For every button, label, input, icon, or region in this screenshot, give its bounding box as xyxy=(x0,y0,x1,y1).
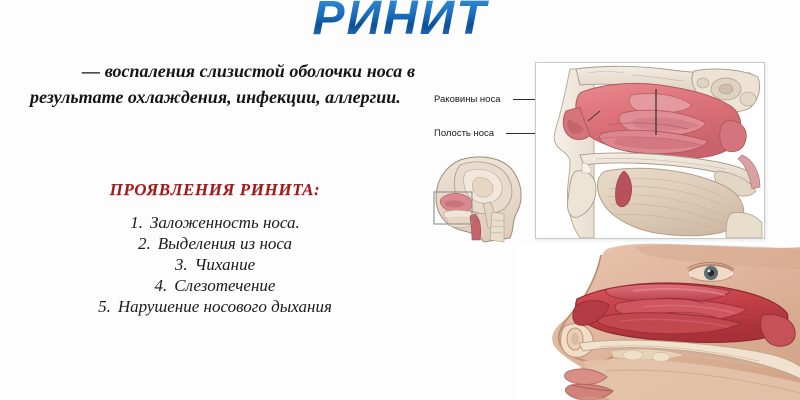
nasal-cavity-sagittal-illustration xyxy=(536,63,764,238)
list-item: 4.Слезотечение xyxy=(0,275,430,296)
definition-paragraph: — воспаления слизистой оболочки носа в р… xyxy=(30,58,415,110)
list-item: 3.Чихание xyxy=(0,254,430,275)
nasal-cavity-diagram-box xyxy=(535,62,765,239)
list-item: 1.Заложенность носа. xyxy=(0,212,430,233)
list-item-label: Выделения из носа xyxy=(158,234,292,253)
list-item-label: Нарушение носового дыхания xyxy=(118,297,332,316)
head-sagittal-inset-icon xyxy=(420,152,538,244)
list-item-number: 3. xyxy=(175,255,188,274)
list-item-label: Слезотечение xyxy=(174,276,275,295)
list-item: 5.Нарушение носового дыхания xyxy=(0,296,430,317)
symptoms-list: 1.Заложенность носа. 2.Выделения из носа… xyxy=(0,212,430,317)
list-item-number: 1. xyxy=(130,213,143,232)
list-item-number: 2. xyxy=(138,234,151,253)
symptoms-heading: ПРОЯВЛЕНИЯ РИНИТА: xyxy=(0,180,430,200)
page-title: РИНИТ xyxy=(0,0,800,44)
label-nasal-conchae: Раковины носа xyxy=(434,94,500,105)
slide-root: РИНИТ — воспаления слизистой оболочки но… xyxy=(0,0,800,400)
list-item-number: 4. xyxy=(155,276,168,295)
list-item-label: Чихание xyxy=(195,255,256,274)
anatomy-diagram: Раковины носа Полость носа xyxy=(420,52,800,247)
list-item-number: 5. xyxy=(98,297,111,316)
list-item-label: Заложенность носа. xyxy=(150,213,300,232)
label-nasal-cavity: Полость носа xyxy=(434,128,494,139)
list-item: 2.Выделения из носа xyxy=(0,233,430,254)
definition-text: — воспаления слизистой оболочки носа в р… xyxy=(30,61,415,107)
inflamed-nasal-cavity-photo xyxy=(515,243,800,400)
